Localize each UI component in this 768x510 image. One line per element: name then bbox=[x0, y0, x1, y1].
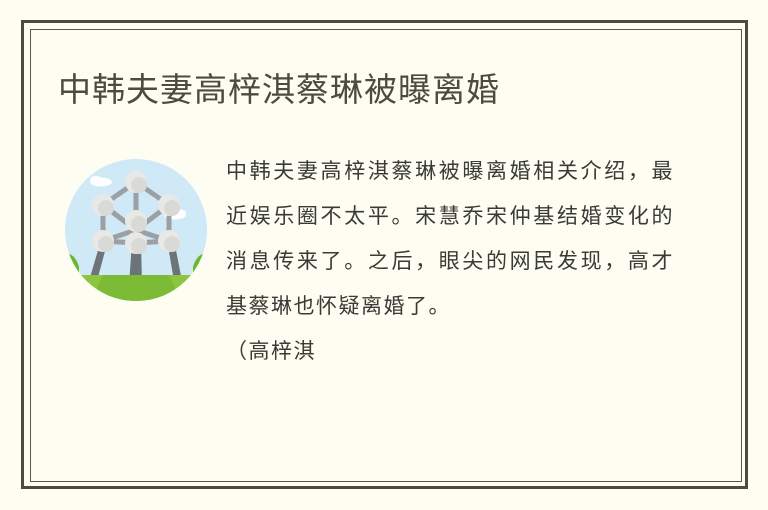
atomium-icon bbox=[63, 157, 209, 303]
article-thumbnail bbox=[63, 157, 209, 303]
article-paragraph: 中韩夫妻高梓淇蔡琳被曝离婚相关介绍，最近娱乐圈不太平。宋慧乔宋仲基结婚变化的消息… bbox=[226, 149, 674, 329]
page-content: 中韩夫妻高梓淇蔡琳被曝离婚 bbox=[30, 29, 742, 482]
article-paragraph: （高梓淇 bbox=[226, 329, 674, 374]
article-body: 中韩夫妻高梓淇蔡琳被曝离婚相关介绍，最近娱乐圈不太平。宋慧乔宋仲基结婚变化的消息… bbox=[226, 149, 674, 374]
page-title: 中韩夫妻高梓淇蔡琳被曝离婚 bbox=[58, 69, 698, 111]
article-page: 中韩夫妻高梓淇蔡琳被曝离婚 bbox=[0, 0, 768, 510]
